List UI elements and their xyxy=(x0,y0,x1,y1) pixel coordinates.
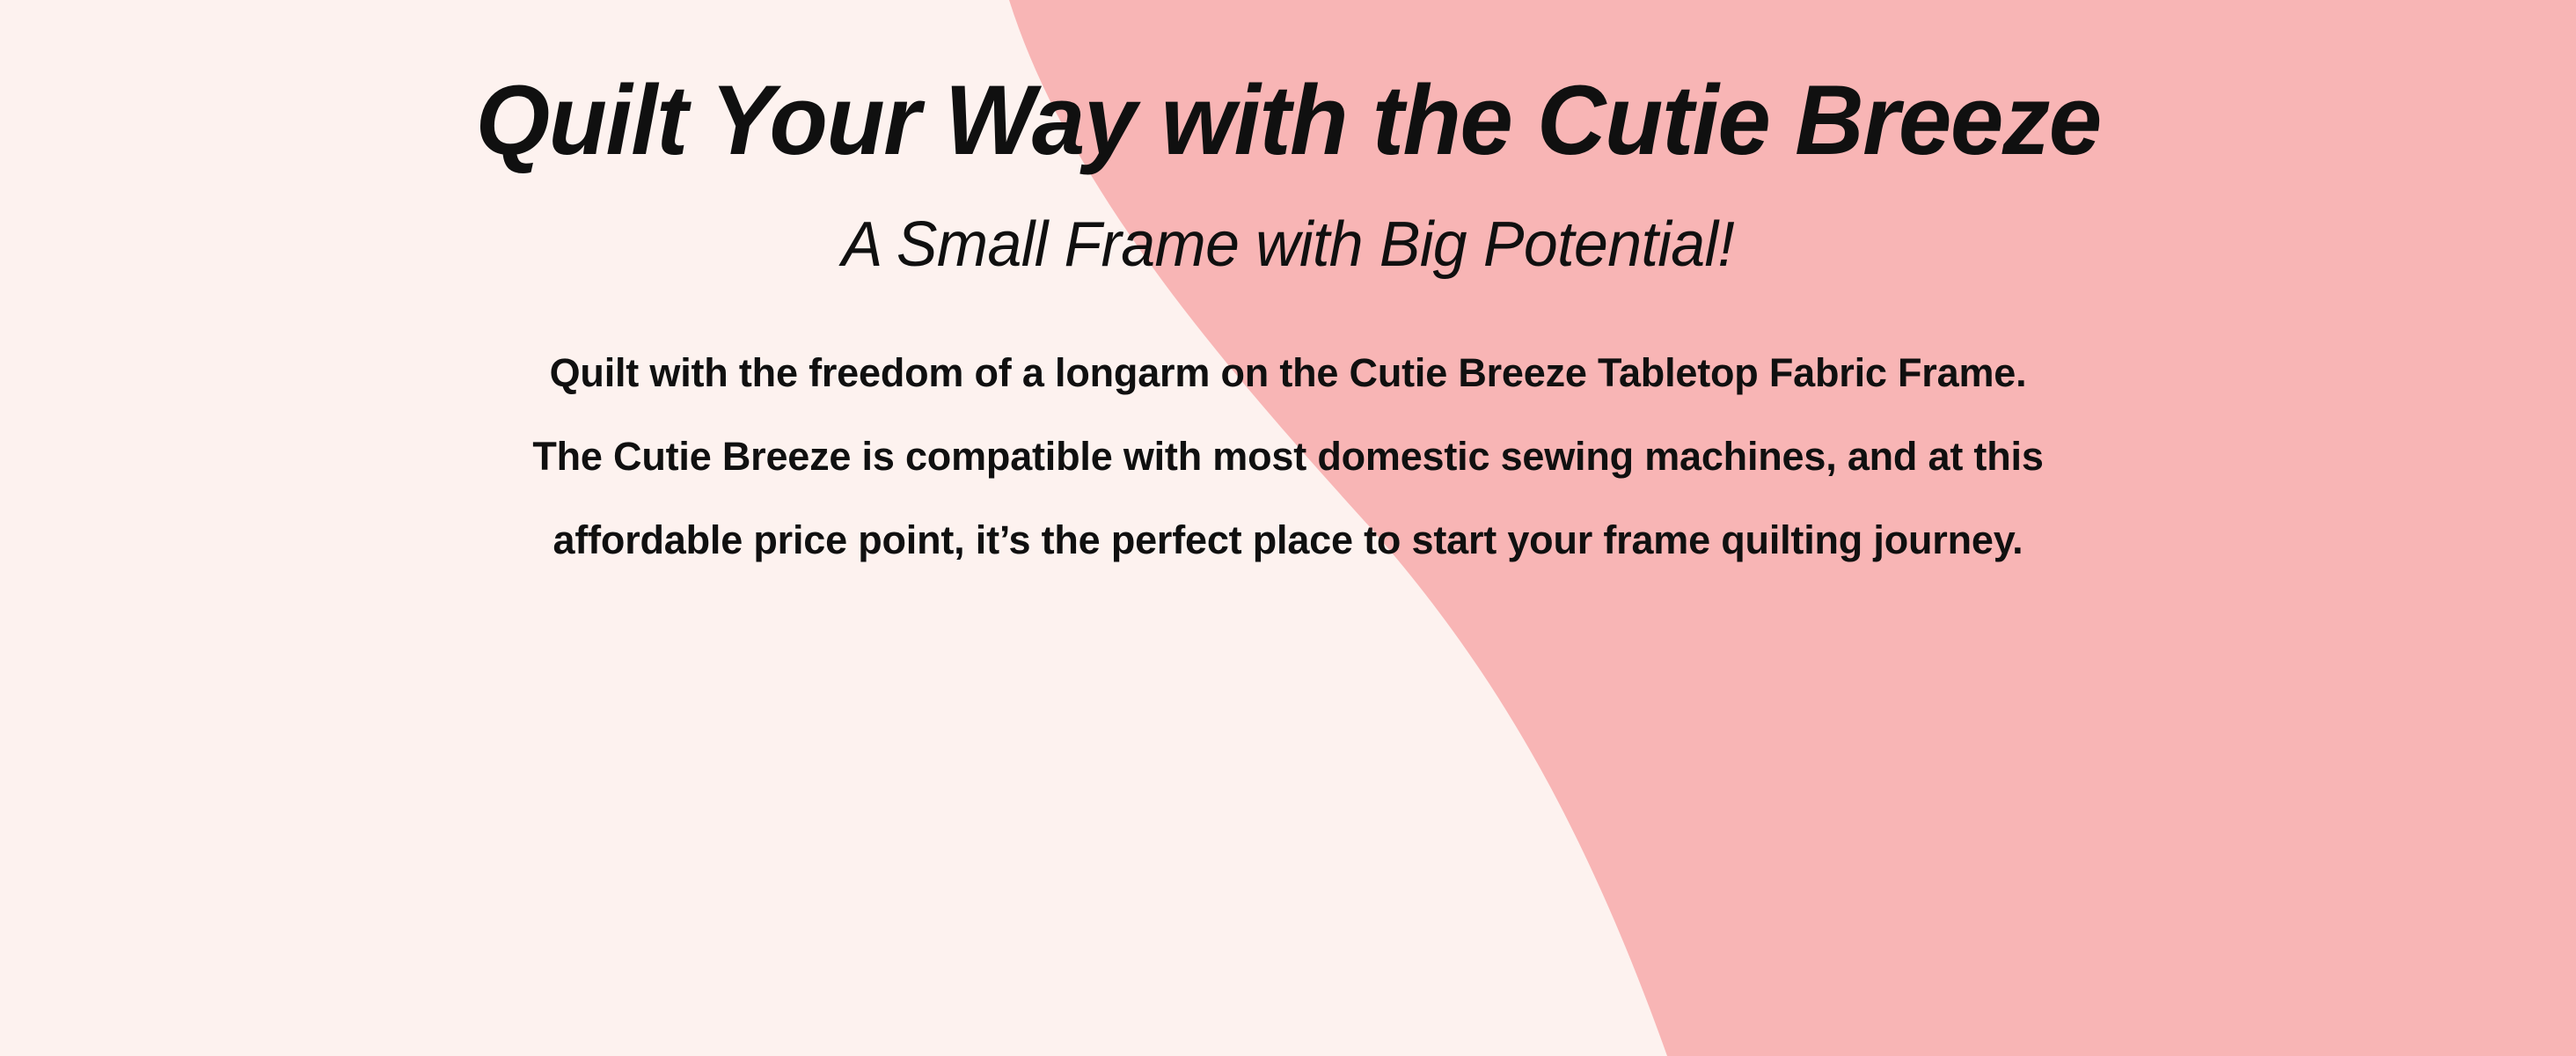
page-subtitle: A Small Frame with Big Potential! xyxy=(842,210,1735,280)
content-stack: Quilt Your Way with the Cutie Breeze A S… xyxy=(0,0,2576,1056)
description-line-1: Quilt with the freedom of a longarm on t… xyxy=(250,331,2326,414)
page-title: Quilt Your Way with the Cutie Breeze xyxy=(475,69,2100,173)
description-line-2: The Cutie Breeze is compatible with most… xyxy=(250,414,2326,498)
description-line-3: affordable price point, it’s the perfect… xyxy=(250,498,2326,582)
hero-banner: Quilt Your Way with the Cutie Breeze A S… xyxy=(0,0,2576,1056)
description-paragraph: Quilt with the freedom of a longarm on t… xyxy=(250,331,2326,582)
